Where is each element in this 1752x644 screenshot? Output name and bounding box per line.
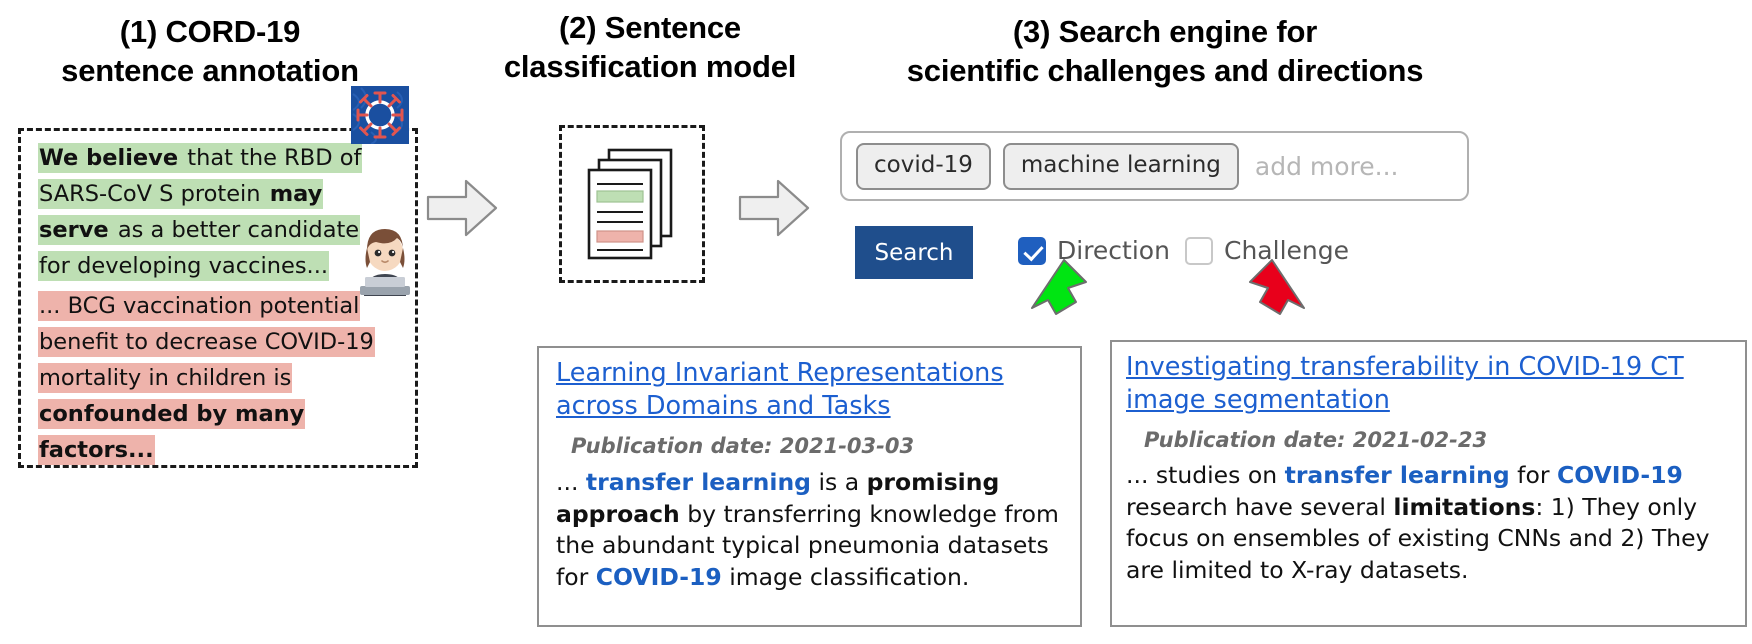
result-snippet-right: ... studies on transfer learning for COV…: [1112, 452, 1745, 586]
flow-arrow-2: [738, 177, 810, 243]
step2-heading-line2: classification model: [460, 47, 840, 86]
sentence-challenge-part-0: ... BCG vaccination potential benefit to…: [38, 291, 375, 393]
result-date-label-right: Publication date:: [1144, 428, 1345, 452]
snippet-left-part-2: is a: [811, 468, 867, 496]
step1-heading: (1) CORD-19 sentence annotation: [10, 12, 410, 90]
snippet-left-part-0: ...: [556, 468, 586, 496]
snippet-right-part-2: for: [1510, 461, 1557, 489]
result-date-value-right: 2021-02-23: [1353, 428, 1487, 452]
snippet-right-part-3: COVID-19: [1557, 461, 1683, 489]
result-card-left[interactable]: Learning Invariant Representations acros…: [537, 346, 1082, 627]
snippet-left-part-1: transfer learning: [586, 468, 811, 496]
annotated-sentence-direction: We believe that the RBD of SARS-CoV S pr…: [36, 140, 384, 284]
snippet-right-part-5: limitations: [1393, 493, 1535, 521]
result-title-link-left[interactable]: Learning Invariant Representations acros…: [539, 348, 1080, 423]
step2-heading: (2) Sentence classification model: [460, 8, 840, 86]
result-date-right: Publication date: 2021-02-23: [1112, 417, 1745, 452]
virus-icon: [351, 86, 409, 144]
snippet-right-part-4: research have several: [1126, 493, 1393, 521]
snippet-left-part-6: image classification.: [722, 563, 970, 591]
result-date-label-left: Publication date:: [571, 434, 772, 458]
step3-heading-line2: scientific challenges and directions: [860, 51, 1470, 90]
search-input-placeholder[interactable]: add more...: [1255, 152, 1399, 181]
search-button[interactable]: Search: [855, 226, 973, 279]
document-stack-icon: [585, 146, 683, 264]
flow-arrow-1: [426, 177, 498, 243]
researcher-icon: [352, 222, 418, 300]
step3-heading: (3) Search engine for scientific challen…: [860, 12, 1470, 90]
result-date-value-left: 2021-03-03: [780, 434, 914, 458]
result-card-right[interactable]: Investigating transferability in COVID-1…: [1110, 340, 1747, 627]
step2-heading-line1: (2) Sentence: [460, 8, 840, 47]
snippet-left-part-5: COVID-19: [596, 563, 722, 591]
step1-heading-line1: (1) CORD-19: [10, 12, 410, 51]
search-chip-machine-learning[interactable]: machine learning: [1003, 143, 1239, 190]
sentence-direction-part-0: We believe: [38, 143, 179, 173]
step3-heading-line1: (3) Search engine for: [860, 12, 1470, 51]
search-bar[interactable]: covid-19 machine learning add more...: [840, 131, 1469, 201]
result-title-link-right[interactable]: Investigating transferability in COVID-1…: [1112, 342, 1745, 417]
snippet-right-part-0: ... studies on: [1126, 461, 1285, 489]
green-down-left-arrow-icon: [1010, 258, 1098, 318]
annotated-sentence-challenge: ... BCG vaccination potential benefit to…: [36, 288, 384, 468]
result-date-left: Publication date: 2021-03-03: [539, 423, 1080, 458]
sentence-challenge-part-1: confounded by many factors...: [38, 399, 305, 465]
snippet-right-part-1: transfer learning: [1285, 461, 1510, 489]
step1-heading-line2: sentence annotation: [10, 51, 410, 90]
red-down-right-arrow-icon: [1238, 258, 1326, 318]
challenge-checkbox[interactable]: [1185, 237, 1213, 265]
result-snippet-left: ... transfer learning is a promising app…: [539, 458, 1080, 593]
search-chip-covid19[interactable]: covid-19: [856, 143, 991, 190]
